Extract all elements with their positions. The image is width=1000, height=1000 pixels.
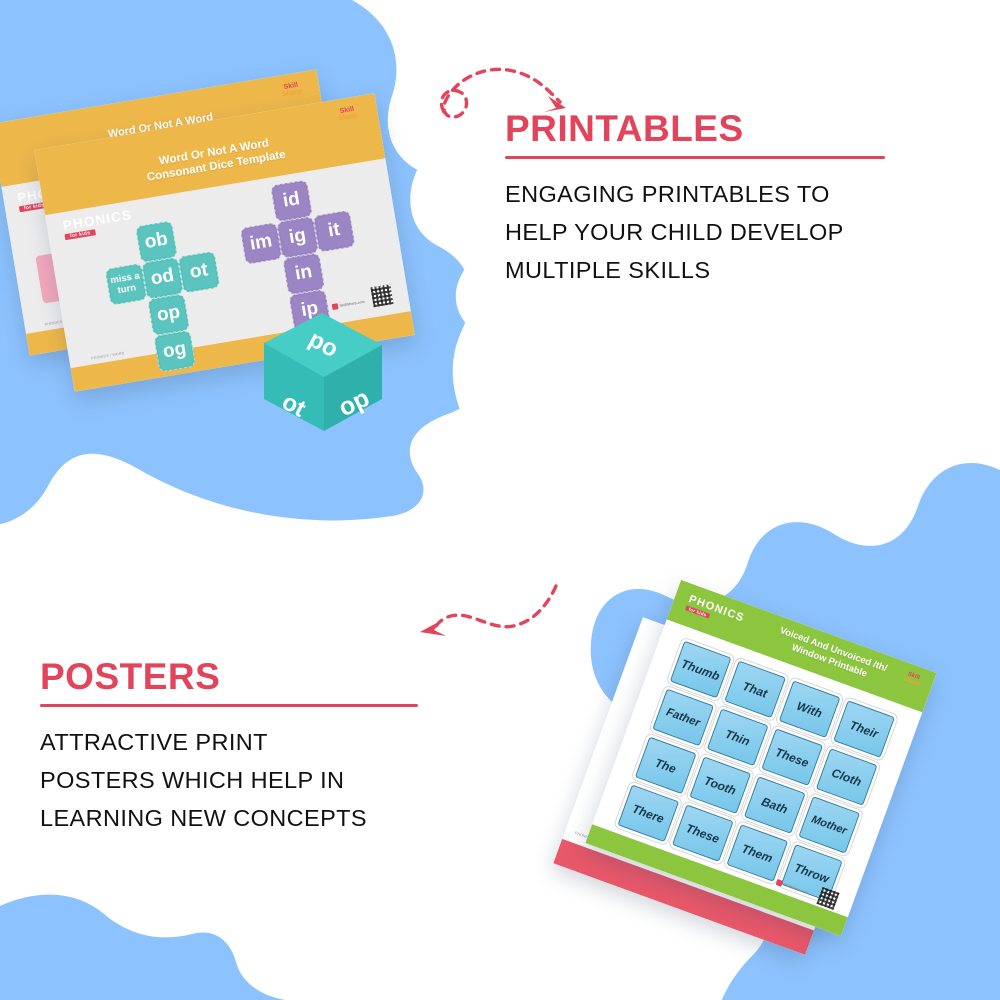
teal-tile-center: od bbox=[141, 257, 184, 300]
posters-body-line-3: LEARNING NEW CONCEPTS bbox=[40, 799, 418, 837]
poster-word-cell: Bath bbox=[744, 776, 806, 834]
poster-word-cell: Thumb bbox=[670, 641, 732, 699]
sheet-front-qr-code bbox=[370, 284, 393, 307]
arrow-head bbox=[420, 620, 446, 636]
teal-tile-left: miss a turn bbox=[105, 263, 148, 306]
purple-tile-left: im bbox=[240, 222, 283, 265]
promo-canvas: PRINTABLES ENGAGING PRINTABLES TO HELP Y… bbox=[0, 0, 1000, 1000]
purple-tile-top: id bbox=[270, 180, 313, 223]
poster-word-cell: These bbox=[761, 728, 823, 786]
posters-body: ATTRACTIVE PRINT POSTERS WHICH HELP IN L… bbox=[40, 723, 418, 837]
purple-tile-center: ig bbox=[276, 216, 319, 259]
poster-word-cell: Cloth bbox=[816, 748, 878, 806]
printables-body: ENGAGING PRINTABLES TO HELP YOUR CHILD D… bbox=[505, 175, 885, 289]
poster-word-cell: These bbox=[672, 804, 734, 862]
teal-tile-right: ot bbox=[178, 251, 221, 294]
poster-word-cell: Mother bbox=[798, 796, 860, 854]
teal-tile-top: ob bbox=[135, 220, 178, 263]
feature-block-posters: POSTERS ATTRACTIVE PRINT POSTERS WHICH H… bbox=[40, 658, 418, 837]
teal-tile-bottom: og bbox=[153, 330, 196, 373]
purple-tile-below: in bbox=[282, 253, 325, 296]
poster-word-cell: Thin bbox=[707, 709, 769, 767]
printables-body-line-1: ENGAGING PRINTABLES TO bbox=[505, 175, 885, 213]
brandmark-square bbox=[775, 879, 783, 887]
poster-word-cell: With bbox=[779, 680, 841, 738]
posters-body-line-1: ATTRACTIVE PRINT bbox=[40, 723, 418, 761]
dashed-curved-arrow-left-icon bbox=[408, 578, 568, 658]
poster-word-cell: Their bbox=[833, 700, 895, 758]
poster-word-cell: That bbox=[724, 661, 786, 719]
poster-word-cell: There bbox=[617, 785, 679, 843]
three-d-dice: od ot op bbox=[250, 305, 390, 435]
posters-body-line-2: POSTERS WHICH HELP IN bbox=[40, 761, 418, 799]
posters-headline: POSTERS bbox=[40, 658, 418, 695]
poster-word-cell: The bbox=[635, 737, 697, 795]
printables-body-line-2: HELP YOUR CHILD DEVELOP bbox=[505, 213, 885, 251]
blob-bottom-left-accent bbox=[0, 895, 286, 1000]
printables-underline bbox=[505, 156, 885, 159]
poster-word-cell: Them bbox=[726, 824, 788, 882]
purple-tile-right: it bbox=[313, 210, 356, 253]
printables-headline: PRINTABLES bbox=[505, 110, 885, 147]
poster-word-cell: Father bbox=[652, 689, 714, 747]
printables-body-line-3: MULTIPLE SKILLS bbox=[505, 251, 885, 289]
posters-underline bbox=[40, 704, 418, 707]
feature-block-printables: PRINTABLES ENGAGING PRINTABLES TO HELP Y… bbox=[505, 110, 885, 289]
teal-tile-below: op bbox=[147, 293, 190, 336]
poster-word-cell: Tooth bbox=[689, 756, 751, 814]
